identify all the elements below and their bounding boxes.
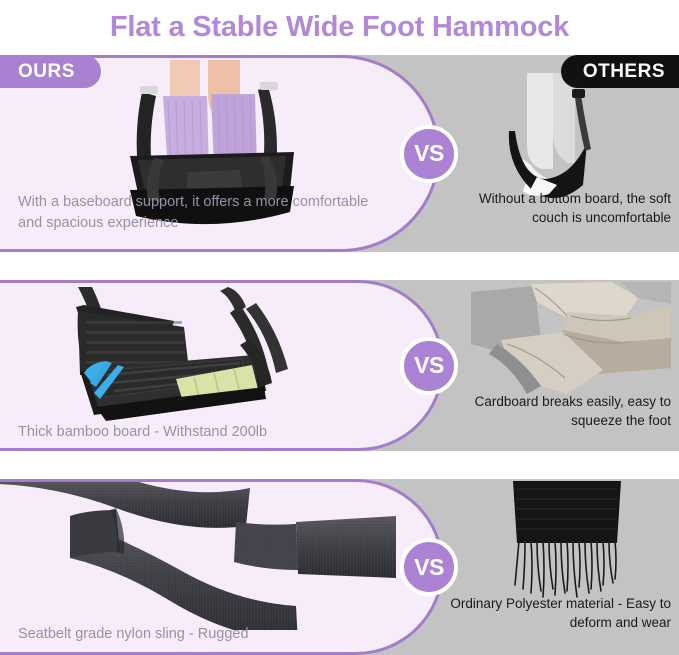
- vs-badge-row-3: VS: [400, 538, 458, 596]
- vs-label: VS: [414, 140, 444, 167]
- comparison-row-2: VS Thick bamboo board - Withstand 200lb …: [0, 280, 679, 451]
- others-image-row-2: [471, 282, 671, 410]
- row-divider-1: [0, 252, 679, 280]
- others-caption-row-2: Cardboard breaks easily, easy to squeeze…: [441, 392, 671, 431]
- badge-others-label: OTHERS: [583, 61, 665, 83]
- comparison-row-3: VS Seatbelt grade nylon sling - Rugged O…: [0, 479, 679, 655]
- vs-badge-row-1: VS: [400, 125, 458, 183]
- ours-image-row-2: [14, 287, 324, 433]
- vs-badge-row-2: VS: [400, 337, 458, 395]
- page-title-bar: Flat a Stable Wide Foot Hammock: [0, 0, 679, 55]
- ours-caption-row-1: With a baseboard support, it offers a mo…: [18, 192, 370, 234]
- badge-ours-label: OURS: [18, 61, 75, 83]
- badge-others-row-1: OTHERS: [561, 55, 679, 88]
- ours-image-row-3: [0, 482, 396, 630]
- page-title: Flat a Stable Wide Foot Hammock: [110, 11, 569, 44]
- others-caption-row-1: Without a bottom board, the soft couch i…: [441, 189, 671, 228]
- ours-caption-row-3: Seatbelt grade nylon sling - Rugged: [18, 624, 370, 645]
- comparison-row-1: OURS OTHERS VS With a baseboard support,…: [0, 55, 679, 252]
- ours-caption-row-2: Thick bamboo board - Withstand 200lb: [18, 422, 370, 443]
- others-image-row-3: [497, 481, 637, 611]
- vs-label: VS: [414, 554, 444, 581]
- comparison-rows: OURS OTHERS VS With a baseboard support,…: [0, 55, 679, 655]
- badge-ours-row-1: OURS: [0, 55, 101, 88]
- others-caption-row-3: Ordinary Polyester material - Easy to de…: [441, 594, 671, 633]
- vs-label: VS: [414, 352, 444, 379]
- row-divider-2: [0, 451, 679, 479]
